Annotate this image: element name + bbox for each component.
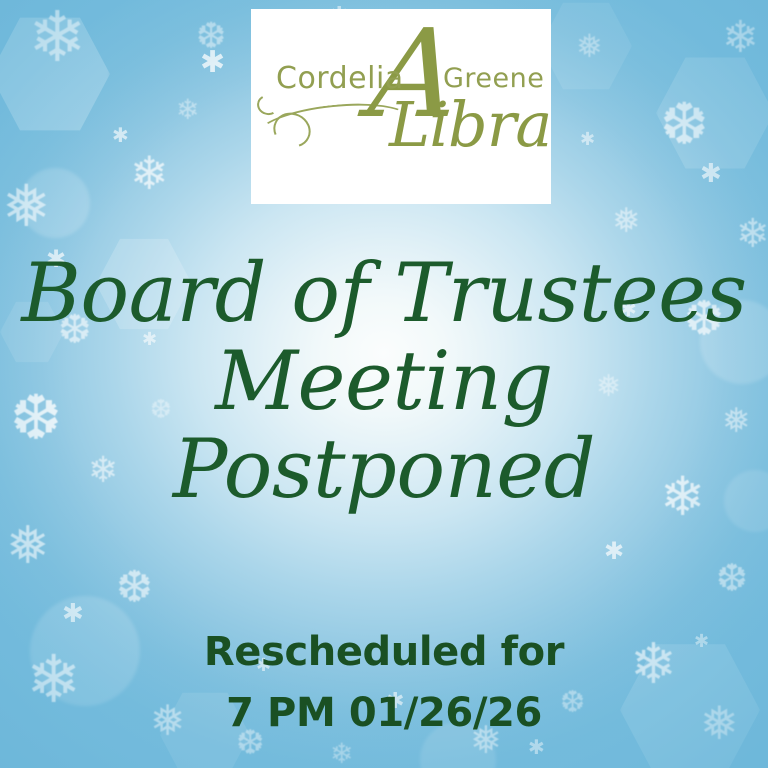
library-logo-card: A Cordelia Greene Library	[251, 9, 551, 204]
headline-line-1: Board of Trustees	[0, 252, 768, 338]
logo-word-library: Library	[389, 88, 551, 161]
headline-line-3: Postponed	[0, 428, 768, 514]
headline-line-2: Meeting	[0, 340, 768, 426]
library-logo: A Cordelia Greene Library	[251, 9, 551, 204]
headline-block: Board of Trustees Meeting Postponed	[0, 252, 768, 514]
winter-announcement-poster: ❄ ❄ ❅ ❆ ❆ ❄ ❅ ❆ ❄ ❅ ❆ ❄ ❅ ❆ ❄ ❅ ❆ ❄ ❅ ❆ …	[0, 0, 768, 768]
reschedule-block: Rescheduled for 7 PM 01/26/26	[0, 626, 768, 739]
reschedule-label: Rescheduled for	[0, 626, 768, 678]
logo-word-cordelia: Cordelia	[276, 61, 404, 96]
logo-flourish-tail-icon	[255, 92, 281, 117]
reschedule-datetime: 7 PM 01/26/26	[0, 687, 768, 739]
